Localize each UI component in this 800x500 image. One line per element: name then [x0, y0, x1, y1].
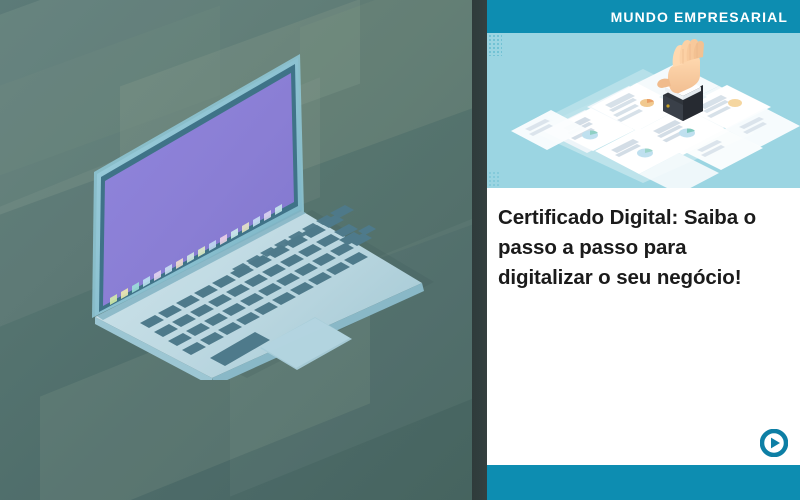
card-header-title: MUNDO EMPRESARIAL: [611, 9, 788, 25]
hero-laptop-scene: [0, 0, 472, 500]
card-body: Certificado Digital: Saiba o passo a pas…: [487, 188, 800, 465]
card-title: Certificado Digital: Saiba o passo a pas…: [498, 203, 768, 293]
article-card[interactable]: MUNDO EMPRESARIAL: [472, 0, 800, 500]
card-illustration-panel: [487, 33, 800, 188]
play-circle-icon[interactable]: [760, 429, 788, 457]
laptop-illustration: [62, 40, 472, 380]
laptop-svg: [62, 40, 472, 380]
card-left-edge: [472, 0, 487, 500]
banner-canvas: MUNDO EMPRESARIAL: [0, 0, 800, 500]
card-footer-bar: [487, 465, 800, 500]
hand-documents-illustration: [487, 33, 800, 188]
card-header-bar: MUNDO EMPRESARIAL: [487, 0, 800, 33]
